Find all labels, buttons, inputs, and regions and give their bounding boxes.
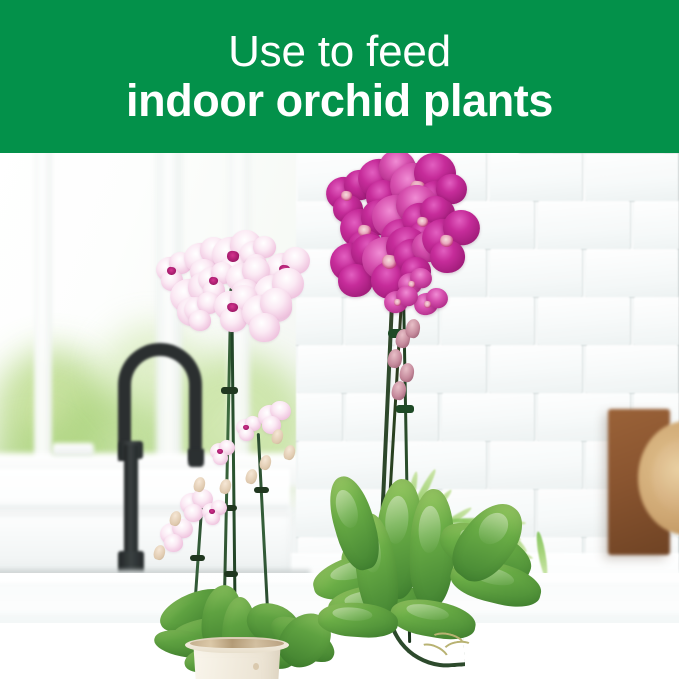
orchid-lip (209, 276, 219, 285)
orchid-bud (398, 362, 415, 383)
orchid-bud (244, 468, 259, 485)
orchid-bud (282, 444, 297, 461)
lifestyle-photo (0, 153, 679, 679)
leaf-highlight (418, 505, 442, 553)
banner-text-block: Use to feed indoor orchid plants (0, 0, 679, 153)
leaf-highlight (332, 488, 362, 530)
leaf-highlight (473, 507, 515, 550)
banner-headline-line1: Use to feed (228, 30, 451, 78)
left-pot-rim-texture (190, 639, 284, 648)
pot-chip (253, 663, 259, 670)
right-orchid-plant (310, 153, 610, 679)
plant-clip (396, 405, 414, 413)
orchid-lip (167, 266, 177, 275)
banner-headline-line2: indoor orchid plants (126, 78, 553, 123)
orchid-bud (404, 318, 421, 339)
product-lifestyle-image: Use to feed indoor orchid plants (0, 0, 679, 679)
plant-clip (221, 387, 238, 394)
header-banner: Use to feed indoor orchid plants (0, 0, 679, 153)
orchid-bud (218, 478, 233, 495)
leaf-highlight (406, 601, 451, 623)
plant-clip (224, 571, 238, 577)
orchid-lip (393, 299, 401, 306)
orchid-lip (423, 301, 431, 308)
leaf-highlight (332, 606, 373, 622)
soap-dish (52, 443, 94, 456)
plant-clip (254, 487, 269, 493)
plant-clip (190, 555, 205, 561)
